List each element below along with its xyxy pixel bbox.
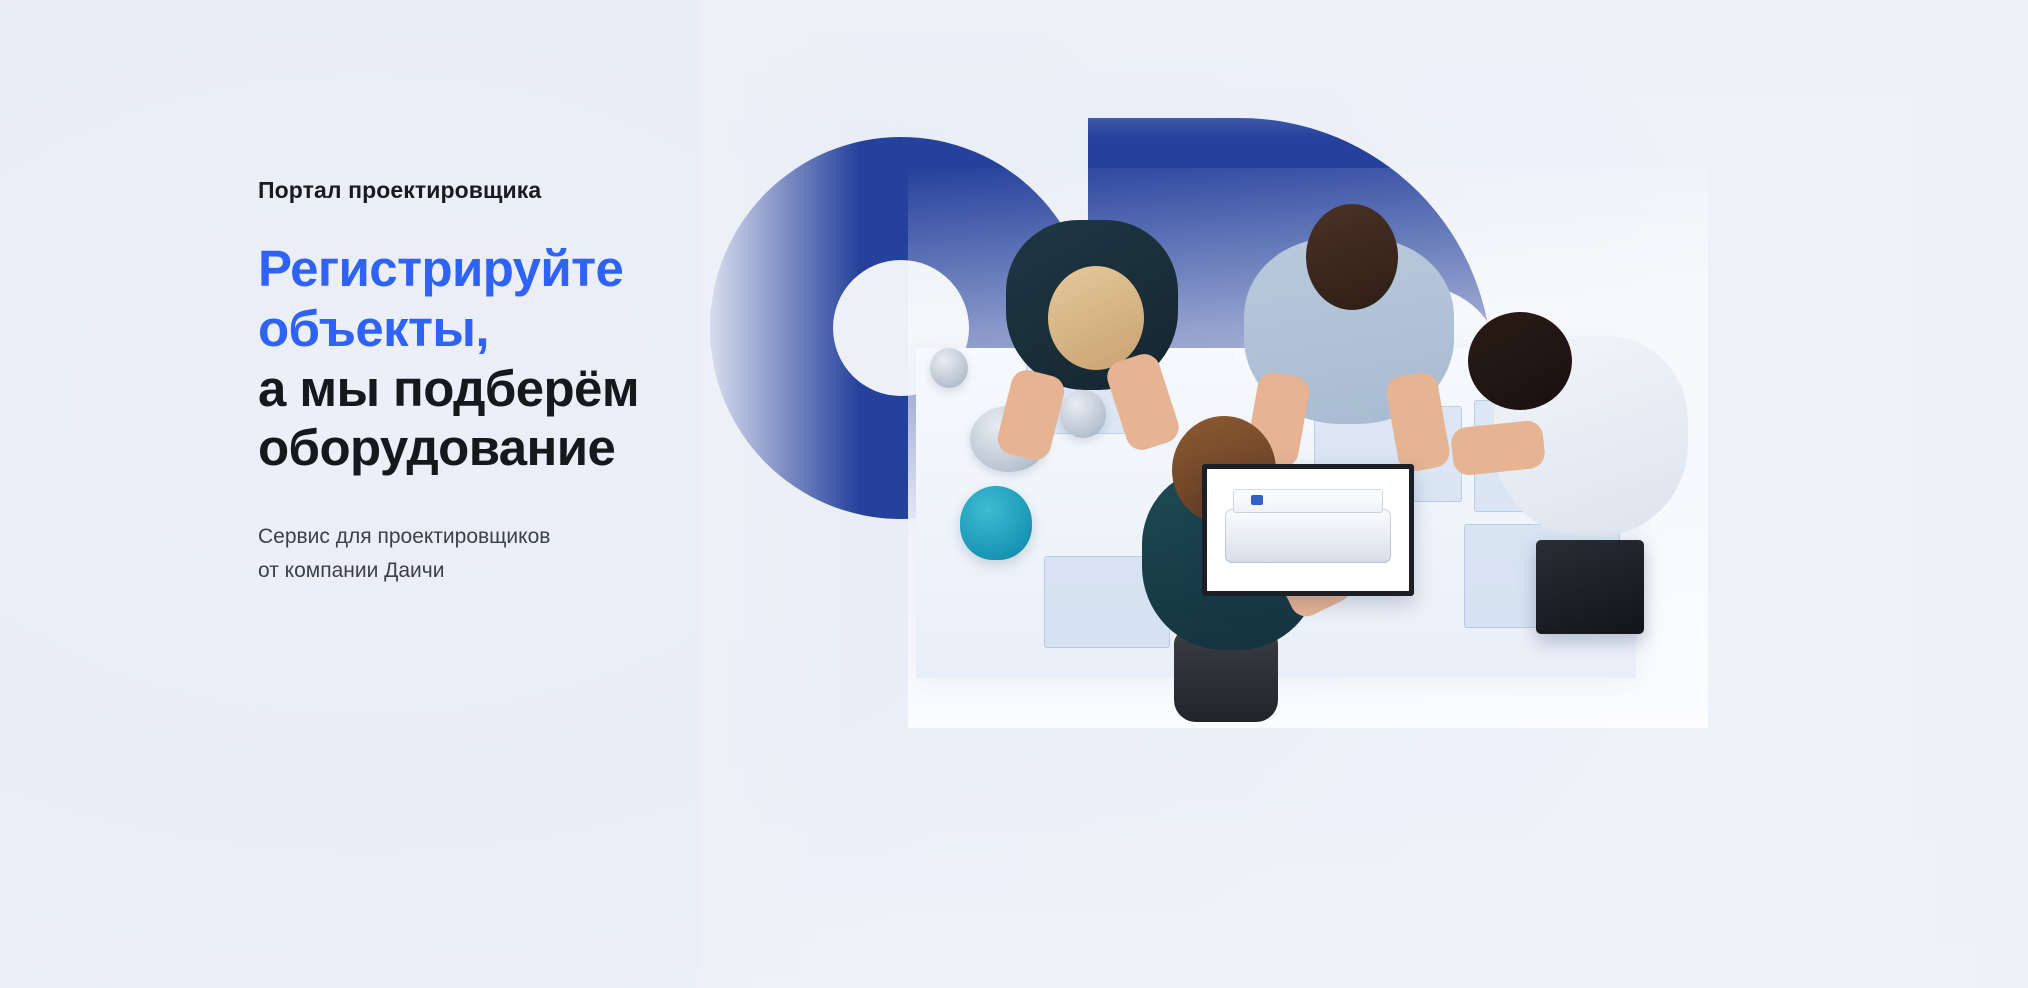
monitor-screen — [1202, 464, 1414, 596]
page-title: Регистрируйте объекты, а мы подберём обо… — [258, 239, 738, 478]
hero-subcopy-line-2: от компании Даичи — [258, 554, 738, 588]
hero-copy: Портал проектировщика Регистрируйте объе… — [258, 176, 738, 588]
hero-artwork — [700, 0, 2028, 988]
person-head — [1468, 312, 1572, 410]
laptop-icon — [1536, 540, 1644, 634]
headline-accent-line-1: Регистрируйте — [258, 239, 738, 299]
hero-subcopy-line-1: Сервис для проектировщиков — [258, 520, 738, 554]
chiller-render-icon — [1225, 509, 1391, 563]
person-head — [1048, 266, 1144, 370]
machined-part-icon — [930, 348, 968, 388]
headline-plain-line-2: оборудование — [258, 418, 738, 478]
hero-subcopy: Сервис для проектировщиков от компании Д… — [258, 520, 738, 588]
hero-eyebrow: Портал проектировщика — [258, 176, 738, 205]
person-arm — [1450, 419, 1547, 476]
headline-accent-line-2: объекты, — [258, 299, 738, 359]
team-photo — [908, 168, 1708, 728]
hero-banner: Портал проектировщика Регистрируйте объе… — [0, 0, 2028, 988]
person-man-white-tee — [1468, 298, 1688, 558]
headline-plain-line-1: а мы подберём — [258, 359, 738, 419]
hard-hat-icon — [960, 486, 1032, 560]
person-arm — [994, 367, 1067, 464]
person-head — [1306, 204, 1398, 310]
